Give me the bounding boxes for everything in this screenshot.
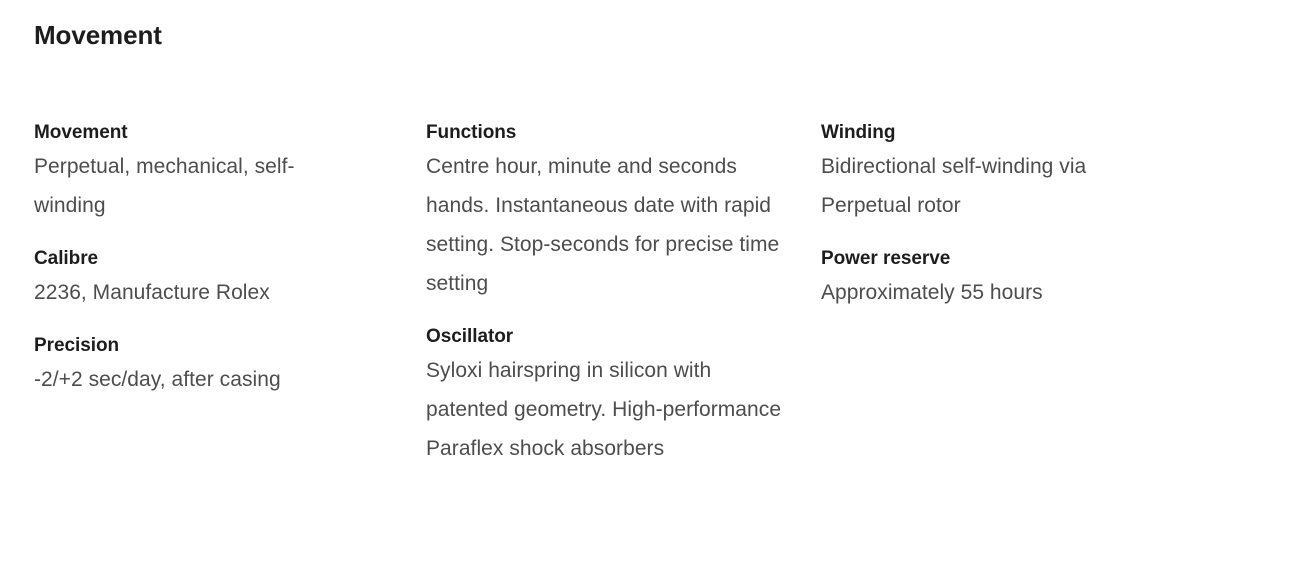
spec-column-functions: Functions Centre hour, minute and second… — [393, 118, 787, 468]
spec-value: 2236, Manufacture Rolex — [34, 273, 364, 312]
spec-label: Winding — [821, 118, 1302, 147]
spec-label: Power reserve — [821, 244, 1302, 273]
spec-group: Oscillator Syloxi hairspring in silicon … — [426, 322, 787, 468]
spec-group: Calibre 2236, Manufacture Rolex — [34, 244, 393, 312]
spec-value: Centre hour, minute and seconds hands. I… — [426, 147, 787, 303]
spec-group: Power reserve Approximately 55 hours — [821, 244, 1302, 312]
spec-label: Precision — [34, 331, 393, 360]
spec-column-winding: Winding Bidirectional self-winding via P… — [787, 118, 1302, 312]
spec-value: -2/+2 sec/day, after casing — [34, 360, 364, 399]
spec-group: Precision -2/+2 sec/day, after casing — [34, 331, 393, 399]
spec-value: Bidirectional self-winding via Perpetual… — [821, 147, 1121, 225]
spec-group: Movement Perpetual, mechanical, self-win… — [34, 118, 393, 225]
spec-label: Calibre — [34, 244, 393, 273]
spec-value: Syloxi hairspring in silicon with patent… — [426, 351, 787, 468]
spec-label: Movement — [34, 118, 393, 147]
movement-specifications-page: Movement Movement Perpetual, mechanical,… — [0, 0, 1302, 567]
spec-group: Functions Centre hour, minute and second… — [426, 118, 787, 303]
page-title: Movement — [34, 18, 162, 52]
spec-column-movement: Movement Perpetual, mechanical, self-win… — [0, 118, 393, 399]
specifications-columns: Movement Perpetual, mechanical, self-win… — [0, 118, 1302, 468]
spec-label: Oscillator — [426, 322, 787, 351]
spec-label: Functions — [426, 118, 787, 147]
spec-value: Perpetual, mechanical, self-winding — [34, 147, 364, 225]
spec-value: Approximately 55 hours — [821, 273, 1121, 312]
spec-group: Winding Bidirectional self-winding via P… — [821, 118, 1302, 225]
